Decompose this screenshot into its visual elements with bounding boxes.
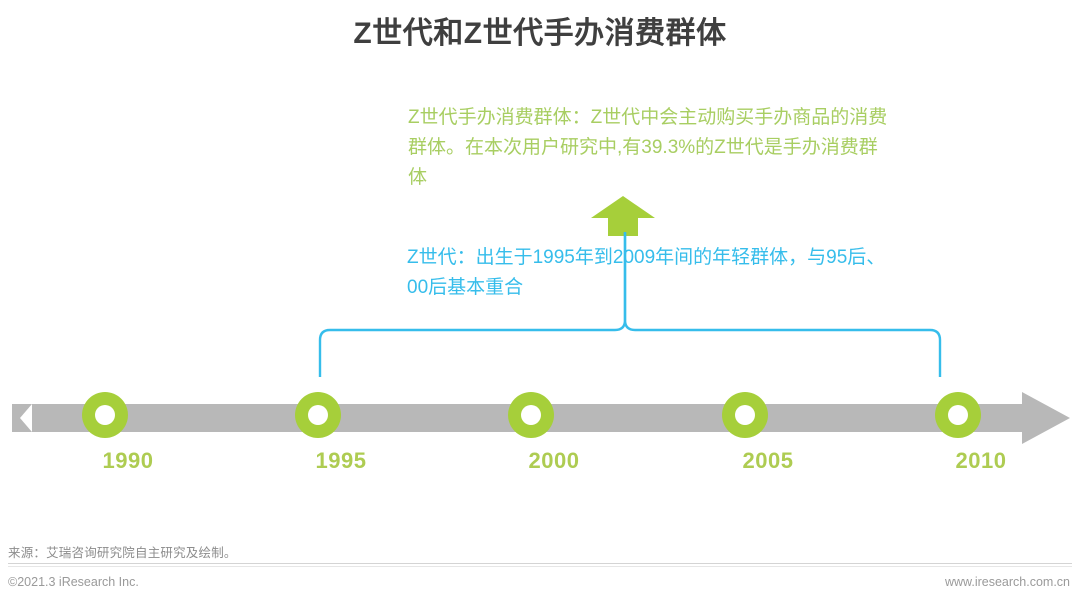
timeline-node-2005[interactable] (722, 392, 768, 438)
timeline: 1990 1995 2000 2005 2010 (0, 392, 1080, 492)
timeline-label-2010: 2010 (921, 448, 1041, 474)
timeline-node-1990[interactable] (82, 392, 128, 438)
footer-copyright-text: ©2021.3 iResearch Inc. (8, 575, 139, 589)
blue-brace-connector (310, 232, 950, 377)
footer-divider-top (8, 563, 1072, 564)
footer-source-text: 来源：艾瑞咨询研究院自主研究及绘制。 (8, 542, 237, 561)
timeline-node-2010[interactable] (935, 392, 981, 438)
timeline-label-2005: 2005 (708, 448, 828, 474)
timeline-label-1995: 1995 (281, 448, 401, 474)
page-title: Z世代和Z世代手办消费群体 (0, 14, 1080, 54)
timeline-label-1990: 1990 (68, 448, 188, 474)
green-up-arrow-icon (591, 196, 655, 236)
timeline-label-2000: 2000 (494, 448, 614, 474)
footer-divider-bottom (8, 566, 1072, 567)
green-annotation-text: Z世代手办消费群体：Z世代中会主动购买手办商品的消费群体。在本次用户研究中,有3… (408, 103, 888, 193)
timeline-node-1995[interactable] (295, 392, 341, 438)
timeline-node-2000[interactable] (508, 392, 554, 438)
footer-website-link[interactable]: www.iresearch.com.cn (945, 575, 1070, 589)
